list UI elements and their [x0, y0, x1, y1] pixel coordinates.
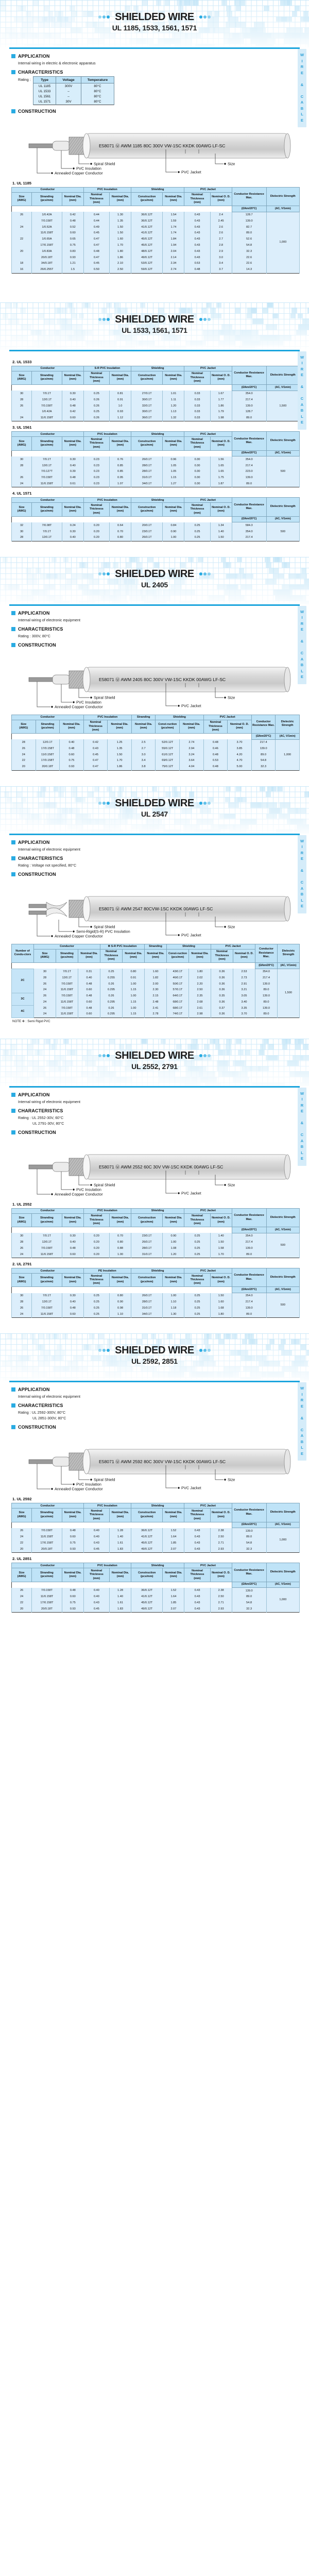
- table-cell: 1.30: [110, 212, 131, 218]
- table-cell: 45/0.12T: [131, 1540, 162, 1547]
- table-cell: 1.85: [163, 1540, 184, 1547]
- table-cell: 0.43: [184, 1600, 210, 1606]
- table-cell: 11/0.158T: [56, 1011, 78, 1018]
- table-cell: 26: [12, 1588, 32, 1594]
- table-cell: 0.43: [83, 746, 108, 752]
- table-caption: 3. UL 1561: [12, 425, 300, 430]
- table-cell: 0.26: [100, 981, 123, 987]
- table-cell: 1.65: [210, 469, 232, 475]
- banner-title-group: SHIELDED WIRE UL 1533, 1561, 1571: [0, 314, 309, 334]
- table-cell: 1.56: [210, 456, 232, 463]
- table-cell: 0.80: [110, 535, 131, 541]
- side-tab-letter: E: [298, 856, 306, 862]
- col-unit-ohm: (Ω/km/20°C): [232, 1227, 266, 1233]
- col-jacket-thick: Nominal Thickness(mm): [184, 192, 210, 206]
- table-cell: 0.42: [83, 739, 108, 745]
- col-unit-ohm: (Ω/km/20°C): [232, 206, 266, 212]
- col-group-jacket: PVC Jacket: [184, 366, 232, 371]
- table-cell: 0.48: [60, 746, 84, 752]
- table-cell: 217.4: [232, 397, 266, 403]
- construction-heading: CONSTRUCTION: [11, 1425, 300, 1430]
- col-size: Size(AWG): [12, 1213, 32, 1227]
- table-cell: 0.25: [83, 1299, 109, 1306]
- cable-cross-section-diagram: E58071 Ⓤ AWM 2547 80CVW-1SC KKDK 00AWG L…: [11, 879, 300, 940]
- table-cell: 0.26: [83, 403, 109, 409]
- table-cell: 28: [12, 397, 32, 403]
- table-cell: 1.10: [163, 1299, 184, 1306]
- table-cell: 0.64: [110, 522, 131, 529]
- application-section: APPLICATIONInternal wiring of electronic…: [11, 1387, 300, 1399]
- table-cell: 54.8: [232, 243, 266, 249]
- side-tab-letter: E: [298, 372, 306, 378]
- banner-title-group: SHIELDED WIRE UL 2592, 2851: [0, 1345, 309, 1365]
- table-cell: 1.40: [110, 1534, 131, 1540]
- table-row: 11/0.158T0.600.451.5041/0.12T1.740.432.6…: [12, 230, 300, 236]
- side-tab-letter: [298, 645, 306, 651]
- table-cell: 0.83: [62, 248, 83, 255]
- col-ins-dia: Nominal Dia.(mm): [108, 720, 132, 733]
- col-shield-dia: Nominal Dia.(mm): [163, 503, 184, 516]
- table-cell: 54.8: [251, 758, 276, 764]
- section-heading-text: CONSTRUCTION: [18, 872, 56, 877]
- table-cell: 0.96: [163, 456, 184, 463]
- col-group-shielding: Shielding: [131, 432, 184, 437]
- table-cell: 0.53: [203, 758, 228, 764]
- side-tab-letter: R: [298, 64, 306, 70]
- table-cell: 24: [12, 481, 32, 487]
- table-cell: 1.00: [163, 1240, 184, 1246]
- table-row: 17/0.158T0.750.471.7045/0.12T1.940.432.8…: [12, 243, 300, 249]
- dots-right-icon: [199, 13, 211, 22]
- table-cell: 2.93: [210, 1606, 232, 1613]
- table-cell: 0.43: [184, 1546, 210, 1552]
- side-tab-letter: &: [298, 638, 306, 645]
- rating-cell: –: [56, 94, 81, 99]
- side-tab-letter: C: [298, 94, 306, 100]
- table-cell: 1.61: [110, 1540, 131, 1547]
- col-jacket-thick: Nominal Thickness(mm): [203, 720, 228, 733]
- svg-text:Annealed Copper Conductor: Annealed Copper Conductor: [55, 704, 103, 709]
- table-cell: 0.25: [184, 1311, 210, 1317]
- bullet-square-icon: [11, 627, 15, 631]
- table-cell: 45/0.12T: [131, 1600, 162, 1606]
- application-section: APPLICATIONInternal wiring of electronic…: [11, 840, 300, 852]
- table-row: 2411/0.158T0.600.261.1236/0.1T1.320.331.…: [12, 415, 300, 421]
- characteristics-section: CHARACTERISTICSRating : UL 2552-30V, 60°…: [11, 1108, 300, 1126]
- table-row: 2812/0.1T0.400.421.252.552/0.12T2.740.48…: [12, 739, 300, 745]
- table-cell: 1.98: [210, 415, 232, 421]
- table-cell: 0.93: [60, 764, 84, 770]
- table-cell: 1/0.42A: [32, 409, 62, 415]
- table-cell: 7/0.1T: [32, 1233, 62, 1239]
- table-cell: 2.50: [189, 987, 211, 993]
- table-cell: 0.47: [83, 764, 108, 770]
- col-stranding: Stranding(pcs/mm): [32, 437, 62, 450]
- table-cell: 54.8: [232, 1600, 266, 1606]
- table-cell: 0.91: [110, 397, 131, 403]
- conductor-count-label: 3C: [12, 993, 34, 1006]
- table-cell: 0.48: [184, 267, 210, 273]
- table-cell: 0.33: [184, 403, 210, 409]
- table-cell: 3.70: [233, 1011, 255, 1018]
- table-cell: 1.20: [163, 1251, 184, 1258]
- table-row: 2020/0.18T0.930.451.8349/0.12T2.070.432.…: [12, 1546, 300, 1552]
- table-cell: 0.25: [184, 1251, 210, 1258]
- table-cell: 0.60: [62, 1534, 83, 1540]
- table-cell: 26: [34, 993, 56, 999]
- table-cell: 0.23: [83, 469, 109, 475]
- table-cell: 1.54: [163, 212, 184, 218]
- table-cell: 75/0.12T: [156, 764, 180, 770]
- table-row: 1626/0.255T1.50.502.5059/0.12T2.740.483.…: [12, 267, 300, 273]
- bullet-square-icon: [11, 840, 15, 844]
- table-cell: 0.60: [62, 1251, 83, 1258]
- col-group-jacket: PVC Jacket: [184, 1563, 232, 1568]
- table-cell: 26/0.1T: [131, 456, 162, 463]
- side-tab-letter: &: [298, 384, 306, 390]
- table-cell: 1.08: [163, 1245, 184, 1251]
- table-cell: 217.4: [232, 535, 266, 541]
- table-cell: 11/0.158T: [32, 415, 62, 421]
- table-cell: 0.30: [62, 1293, 83, 1299]
- table-cell: 139.0: [232, 218, 266, 225]
- table-cell: 36/0.12T: [131, 1528, 162, 1534]
- col-ins-thick: Nominal Thickness(mm): [100, 949, 123, 962]
- table-row: 2411/0.158T0.600.2951.152.3057/0.1T2.500…: [12, 987, 300, 993]
- bullet-square-icon: [11, 1387, 15, 1392]
- application-text: Internal wiring of electronic equipment: [18, 1099, 300, 1105]
- table-cell: 26/0.1T: [131, 1293, 162, 1299]
- table-cell: 1.60: [145, 969, 167, 975]
- table-cell: 89.0: [232, 1311, 266, 1317]
- table-cell: 0.30: [184, 481, 210, 487]
- col-group-conductor: Conductor: [34, 944, 100, 949]
- col-group-jacket: PVC Jacket: [184, 1268, 232, 1274]
- application-text: Internal wiring of electronic equipment: [18, 1394, 300, 1399]
- table-cell: 0.40: [62, 1240, 83, 1246]
- table-cell: 74/0.1T: [167, 1011, 189, 1018]
- section-heading-text: CHARACTERISTICS: [18, 626, 63, 632]
- table-cell: 11/0.158T: [32, 230, 62, 236]
- dots-left-icon: [98, 569, 110, 579]
- table-cell: 22: [12, 1600, 32, 1606]
- table-cell: 1.74: [163, 224, 184, 230]
- col-dielectric-strength: Dielectric Strength: [266, 1503, 299, 1522]
- rating-text: Rating : UL 2592-300V, 80°CUL 2851-300V,…: [18, 1410, 300, 1421]
- table-cell: 0.75: [62, 243, 83, 249]
- table-cell: 1.28: [110, 1528, 131, 1534]
- table-cell: 0.85: [110, 469, 131, 475]
- table-cell: 0.84: [163, 522, 184, 529]
- table-cell: 30: [12, 529, 32, 535]
- col-group-insulation: PE Insulation: [83, 1268, 131, 1274]
- table-cell: 1.0: [110, 403, 131, 409]
- table-cell: 354.0: [255, 969, 278, 975]
- col-unit-ac: (AC, V/1min): [276, 734, 300, 740]
- bullet-square-icon: [11, 70, 15, 74]
- table-cell: 0.42: [62, 409, 83, 415]
- table-cell: 23/0.1T: [131, 1233, 162, 1239]
- table-cell: 1.58: [210, 1245, 232, 1251]
- col-size: Size(AWG): [12, 371, 32, 384]
- col-group-insulation: PVC Insulation: [83, 1503, 131, 1509]
- table-cell: 0.30: [62, 456, 83, 463]
- table-row: 327/0.08T0.240.200.6420/0.1T0.840.251.34…: [12, 522, 300, 529]
- application-heading: APPLICATION: [11, 840, 300, 845]
- table-row: 221/0.65A0.650.471.6045/0.12T1.840.432.7…: [12, 236, 300, 243]
- col-unit-ohm: (Ω/km/20°C): [232, 1287, 266, 1293]
- dielectric-value: 1,000: [266, 1588, 299, 1613]
- table-cell: 17/0.158T: [32, 243, 62, 249]
- cable-diagram-wrap: E58071 Ⓤ AWM 2592 80C 300V VW-1SC KKDK 0…: [11, 1432, 300, 1493]
- construction-heading: CONSTRUCTION: [11, 109, 300, 114]
- table-cell: 0.40: [62, 1299, 83, 1306]
- col-size: Size(AWG): [34, 949, 56, 962]
- side-tab-letter: [298, 390, 306, 396]
- svg-text:Spiral Shield: Spiral Shield: [94, 1182, 115, 1187]
- side-tab-letter: W: [298, 609, 306, 615]
- table-cell: 1.70: [210, 1251, 232, 1258]
- table-cell: 0.88: [110, 1245, 131, 1251]
- col-unit-ac: (AC, V/1min): [278, 963, 300, 969]
- col-ins-thick: Nominal Thickness(mm): [83, 1509, 109, 1522]
- table-cell: 24: [12, 224, 32, 230]
- section-heading-text: CONSTRUCTION: [18, 642, 56, 648]
- spec-table: Conductor PE Insulation Shielding PVC Ja…: [11, 1268, 300, 1318]
- table-cell: 0.40: [83, 1534, 109, 1540]
- table-cell: 26: [12, 746, 36, 752]
- table-cell: 36/0.1T: [131, 415, 162, 421]
- table-row: 267/0.158T0.480.200.8828/0.1T1.080.251.5…: [12, 1245, 300, 1251]
- dielectric-value: 1,000: [266, 212, 299, 273]
- col-ins-dia: Nominal Dia.(mm): [110, 192, 131, 206]
- table-cell: 2.6: [210, 224, 232, 230]
- svg-text:E58071 Ⓤ AWM 2552 60C 30V VW: E58071 Ⓤ AWM 2552 60C 30V VW-1SC KKDK 00…: [99, 1164, 223, 1170]
- table-caption: 1. UL 2592: [12, 1497, 300, 1501]
- side-tab-letter: I: [298, 58, 306, 64]
- col-unit-ohm: (Ω/km/20°C): [232, 1582, 266, 1588]
- table-cell: 0.25: [184, 1299, 210, 1306]
- col-shield-dia: Nominal Dia.(mm): [163, 192, 184, 206]
- table-cell: 0.30: [184, 475, 210, 481]
- table-cell: 3.64: [180, 758, 204, 764]
- table-cell: 1.50: [110, 230, 131, 236]
- table-cell: 0.60: [78, 1011, 100, 1018]
- cable-diagram-wrap: E58071 Ⓤ AWM 2547 80CVW-1SC KKDK 00AWG L…: [11, 879, 300, 940]
- table-cell: 11/0.158T: [32, 1311, 62, 1317]
- col-shield-construction: Construction(pcs/mm): [131, 503, 162, 516]
- col-ins-thick: Nominal Thickness(mm): [83, 1274, 109, 1287]
- col-jacket-od: Nominal O. D.(mm): [210, 1274, 232, 1287]
- catalog-page: SHIELDED WIRE UL 2592, 2851 WIRE & CABLE…: [0, 1333, 309, 1628]
- table-cell: 0.31: [78, 969, 100, 975]
- spec-table: Conductor PVC Insulation Shielding PVC J…: [11, 1563, 300, 1613]
- table-cell: 0.295: [100, 999, 123, 1006]
- table-cell: 1.50: [108, 752, 132, 758]
- section-heading-text: CHARACTERISTICS: [18, 856, 63, 861]
- table-cell: 41/0.12T: [131, 1534, 162, 1540]
- col-ins-dia: Nominal Dia.(mm): [110, 503, 131, 516]
- col-cond-dia: Nominal Dia.(mm): [62, 1274, 83, 1287]
- table-cell: 0.45: [83, 261, 109, 267]
- cable-cross-section-diagram: E58071 Ⓤ AWM 2405 80C 300V VW-1SC KKDK 0…: [11, 650, 300, 711]
- table-cell: 2.10: [110, 261, 131, 267]
- page-subtitle: UL 2405: [0, 581, 309, 589]
- application-heading: APPLICATION: [11, 1387, 300, 1392]
- side-tab-letter: [298, 1126, 306, 1132]
- table-row: 7/0.158T0.480.441.3536/0.12T1.590.432.45…: [12, 218, 300, 225]
- table-cell: 0.30: [184, 469, 210, 475]
- col-unit-ac: (AC, V/1min): [266, 450, 299, 456]
- table-cell: 139.0: [255, 1005, 278, 1011]
- table-cell: 45/0.12T: [131, 243, 162, 249]
- table-cell: 0.52: [62, 224, 83, 230]
- table-cell: 24: [12, 1594, 32, 1600]
- table-cell: 0.20: [83, 522, 109, 529]
- table-cell: 7/0.127T: [32, 469, 62, 475]
- table-cell: 50/0.1T: [167, 981, 189, 987]
- catalog-page: SHIELDED WIRE UL 2552, 2791 WIRE & CABLE…: [0, 1039, 309, 1333]
- spec-table: Conductor PVC Insulation Shielding PVC J…: [11, 431, 300, 487]
- dots-left-icon: [98, 315, 110, 324]
- table-cell: 36/0.12T: [131, 218, 162, 225]
- col-group-conductor: Conductor: [12, 715, 84, 720]
- table-cell: 1.34: [210, 522, 232, 529]
- table-cell: 354.0: [232, 529, 266, 535]
- col-jacket-od: Nominal O. D.(mm): [210, 503, 232, 516]
- table-cell: 17/0.158T: [32, 1540, 62, 1547]
- table-cell: 0.93: [110, 409, 131, 415]
- table-cell: 55/0.12T: [156, 746, 180, 752]
- application-text: Internal wiring of electronic equipment: [18, 846, 300, 852]
- table-cell: 0.25: [184, 1306, 210, 1312]
- table-cell: 0.49: [83, 224, 109, 230]
- table-row: 2411/0.158T0.600.401.4041/0.12T1.640.432…: [12, 1534, 300, 1540]
- table-cell: 0.33: [184, 391, 210, 397]
- col-group-jacket: PVC Jacket: [211, 944, 255, 949]
- col-unit-ohm: (Ω/km/20°C): [232, 450, 266, 456]
- table-cell: 4.20: [228, 752, 252, 758]
- table-cell: 49/0.12T: [131, 1606, 162, 1613]
- table-cell: 26: [12, 1528, 32, 1534]
- table-cell: 1.15: [123, 987, 145, 993]
- bullet-square-icon: [11, 1130, 15, 1134]
- table-cell: 0.30: [62, 529, 83, 535]
- table-cell: 11/0.158T: [36, 752, 60, 758]
- col-group-jacket: PVC Jacket: [184, 1208, 232, 1213]
- page-banner: SHIELDED WIRE UL 2547: [0, 786, 309, 834]
- table-cell: 354.0: [232, 391, 266, 397]
- side-tab-letter: I: [298, 615, 306, 621]
- table-cell: 89.0: [232, 1594, 266, 1600]
- table-cell: 0.48: [62, 1588, 83, 1594]
- table-cell: 1.70: [110, 243, 131, 249]
- col-ins-thick: Nominal Thickness(mm): [83, 1568, 109, 1582]
- table-cell: 11/0.158T: [32, 1594, 62, 1600]
- table-cell: 0.47: [83, 758, 108, 764]
- table-cell: 34/0.1T: [131, 1311, 162, 1317]
- table-cell: 0.46: [203, 746, 228, 752]
- table-cell: 0.33: [184, 415, 210, 421]
- table-cell: 0.30: [184, 456, 210, 463]
- table-cell: 24: [34, 987, 56, 993]
- table-row: 20/0.18T0.930.471.8649/0.12T2.140.433.02…: [12, 255, 300, 261]
- table-cell: 26: [12, 212, 32, 218]
- side-tab-letter: &: [298, 82, 306, 88]
- table-row: 2411/0.158T0.600.251.1034/0.1T1.300.251.…: [12, 1311, 300, 1317]
- application-text: Internal wiring in electric & electronic…: [18, 60, 300, 66]
- table-cell: 3.4: [131, 758, 156, 764]
- dielectric-value: 500: [266, 522, 299, 541]
- construction-heading: CONSTRUCTION: [11, 642, 300, 648]
- table-row: 307/0.1T0.300.250.8127/0.1T1.010.331.673…: [12, 391, 300, 397]
- table-row: 2617/0.158T0.480.431.352.755/0.12T2.940.…: [12, 746, 300, 752]
- table-row: 307/0.1T0.300.200.7023/0.1T0.900.251.403…: [12, 1233, 300, 1239]
- table-cell: 1.83: [110, 1606, 131, 1613]
- side-tab-letter: B: [298, 106, 306, 112]
- col-unit-ac: (AC, V/1min): [266, 1522, 299, 1528]
- side-tab-letter: W: [298, 838, 306, 844]
- table-cell: 3.0: [210, 255, 232, 261]
- col-conductor-resistance: Conductor Resistance Max.: [232, 366, 266, 384]
- table-cell: 12/0.1T: [32, 1299, 62, 1306]
- section-heading-text: CONSTRUCTION: [18, 1130, 56, 1135]
- table-row: 267/0.158T0.480.230.9531/0.1T1.150.301.7…: [12, 475, 300, 481]
- side-tab-letter: E: [298, 626, 306, 633]
- table-cell: 0.26: [100, 1005, 123, 1011]
- rating-cell: 30V: [56, 99, 81, 105]
- table-cell: 0.48: [62, 403, 83, 409]
- table-cell: 0.23: [83, 475, 109, 481]
- spec-table: Conductor PVC Insulation Stranding Shiel…: [11, 715, 300, 771]
- table-cell: 32.3: [232, 248, 266, 255]
- table-cell: 1.35: [110, 218, 131, 225]
- table-cell: 2.61: [189, 1005, 211, 1011]
- table-cell: 24: [12, 1251, 32, 1258]
- col-ins-thick: Nominal Thickness(mm): [83, 503, 109, 516]
- page-banner: SHIELDED WIRE UL 1533, 1561, 1571: [0, 302, 309, 350]
- dots-right-icon: [199, 569, 211, 579]
- table-cell: 1.05: [163, 463, 184, 469]
- table-caption: 2. UL 2851: [12, 1556, 300, 1561]
- table-cell: 11/0.158T: [56, 999, 78, 1006]
- table-row: 2411/0.158T0.600.401.4041/0.12T1.640.432…: [12, 1594, 300, 1600]
- col-unit-ohm: (Ω/km/20°C): [232, 516, 266, 522]
- table-cell: 68/0.1T: [167, 999, 189, 1006]
- table-cell: 26/0.1T: [131, 535, 162, 541]
- col-stranding: Stranding(pcs/mm): [32, 1274, 62, 1287]
- table-cell: 0.60: [62, 1594, 83, 1600]
- section-heading-text: CONSTRUCTION: [18, 1425, 56, 1430]
- table-cell: 24: [34, 1011, 56, 1018]
- table-cell: 2.38: [210, 1528, 232, 1534]
- table-cell: 1.00: [123, 1005, 145, 1011]
- rating-cell: UL 1571: [33, 99, 56, 105]
- table-cell: 0.20: [83, 1251, 109, 1258]
- table-cell: 30: [34, 969, 56, 975]
- table-cell: 48/0.12T: [131, 248, 162, 255]
- table-cell: 36/0.12T: [131, 212, 162, 218]
- bullet-square-icon: [11, 643, 15, 647]
- col-ins-dia: Nominal Dia.(mm): [110, 1274, 131, 1287]
- table-cell: 27/0.1T: [131, 391, 162, 397]
- table-cell: 2.41: [145, 1005, 167, 1011]
- table-cell: 1/0.42A: [32, 212, 62, 218]
- svg-text:E58071 Ⓤ AWM 2592 80C 300V V: E58071 Ⓤ AWM 2592 80C 300V VW-1SC KKDK 0…: [99, 1459, 226, 1464]
- col-group-conductor: Conductor: [12, 432, 84, 437]
- rating-cell: 80°C: [81, 94, 114, 99]
- page-banner: SHIELDED WIRE UL 2552, 2791: [0, 1039, 309, 1086]
